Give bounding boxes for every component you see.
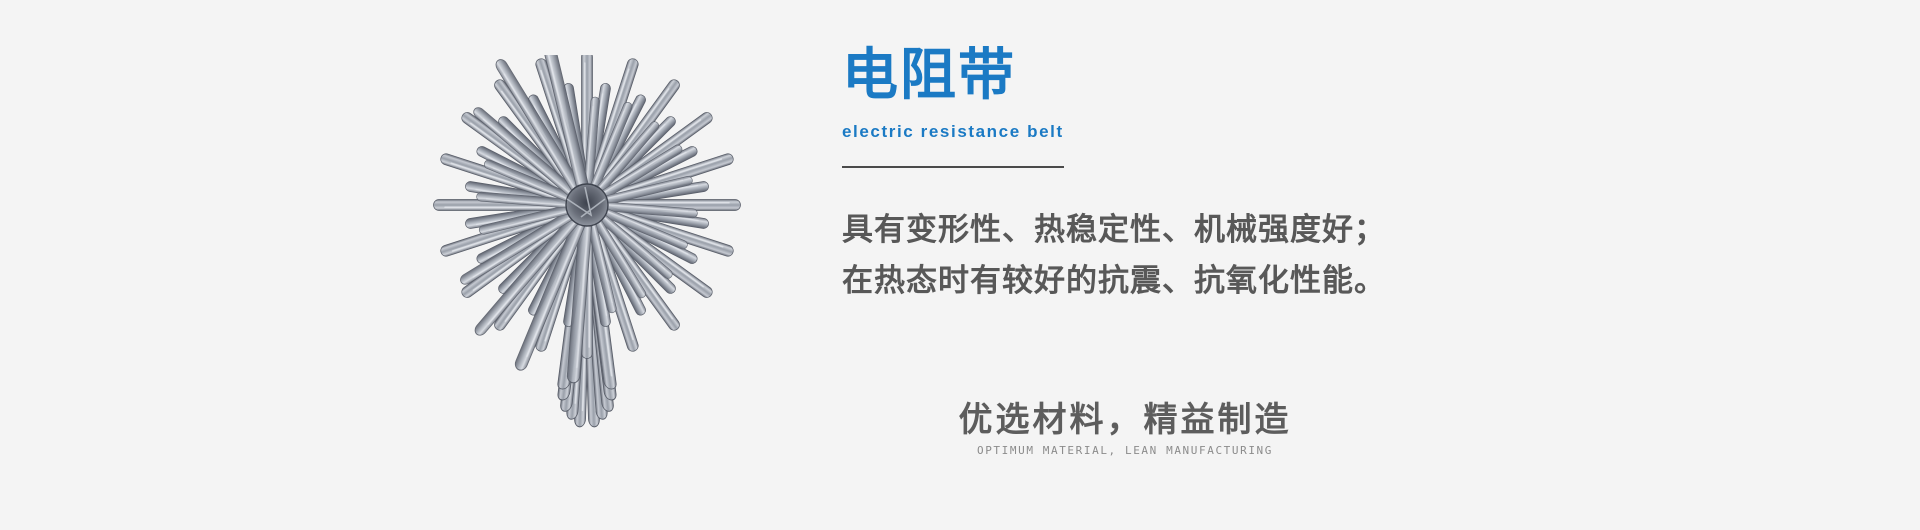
banner-stage: 电阻带 electric resistance belt 具有变形性、热稳定性、… xyxy=(0,0,1920,530)
description-block: 具有变形性、热稳定性、机械强度好； 在热态时有较好的抗震、抗氧化性能。 xyxy=(842,204,1742,306)
product-image xyxy=(365,55,805,455)
description-line-1: 具有变形性、热稳定性、机械强度好； xyxy=(842,204,1742,255)
resistance-belt-burst-icon xyxy=(365,55,805,455)
slogan-chinese: 优选材料，精益制造 xyxy=(955,400,1295,440)
slogan-english: OPTIMUM MATERIAL, LEAN MANUFACTURING xyxy=(955,444,1295,457)
page-title: 电阻带 xyxy=(842,44,1742,106)
description-line-2: 在热态时有较好的抗震、抗氧化性能。 xyxy=(842,255,1742,306)
page-subtitle: electric resistance belt xyxy=(842,122,1742,142)
info-block: 电阻带 electric resistance belt 具有变形性、热稳定性、… xyxy=(842,44,1742,306)
binding-core xyxy=(566,184,608,226)
slogan-block: 优选材料，精益制造 OPTIMUM MATERIAL, LEAN MANUFAC… xyxy=(955,400,1295,457)
title-divider xyxy=(842,166,1064,168)
